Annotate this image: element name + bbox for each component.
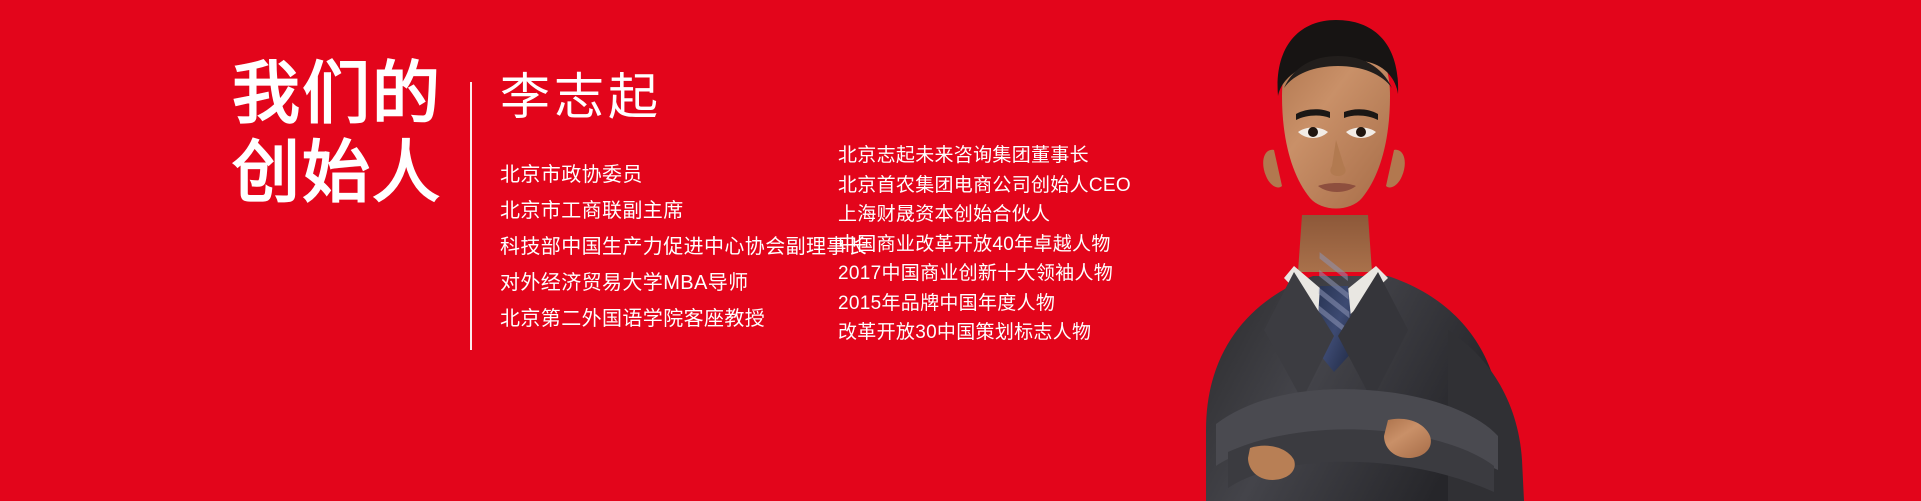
page-title-line-1: 我们的: [232, 55, 482, 134]
list-item: 北京第二外国语学院客座教授: [500, 301, 867, 337]
list-item: 北京市工商联副主席: [500, 193, 867, 229]
list-item: 北京市政协委员: [500, 157, 867, 193]
founder-name: 李志起: [500, 68, 662, 126]
pupil-left: [1308, 127, 1318, 137]
founder-banner: 我们的 创始人 李志起 北京市政协委员 北京市工商联副主席 科技部中国生产力促进…: [0, 0, 1921, 501]
page-title: 我们的 创始人: [232, 55, 482, 213]
list-item: 科技部中国生产力促进中心协会副理事长: [500, 229, 867, 265]
credentials-left-column: 北京市政协委员 北京市工商联副主席 科技部中国生产力促进中心协会副理事长 对外经…: [500, 157, 867, 337]
ear-right: [1386, 150, 1405, 188]
page-title-line-2: 创始人: [232, 134, 482, 213]
pupil-right: [1356, 127, 1366, 137]
vertical-divider: [470, 82, 472, 350]
ear-left: [1263, 150, 1282, 188]
neck: [1298, 215, 1372, 272]
list-item: 对外经济贸易大学MBA导师: [500, 265, 867, 301]
founder-portrait-image: [1088, 0, 1608, 501]
